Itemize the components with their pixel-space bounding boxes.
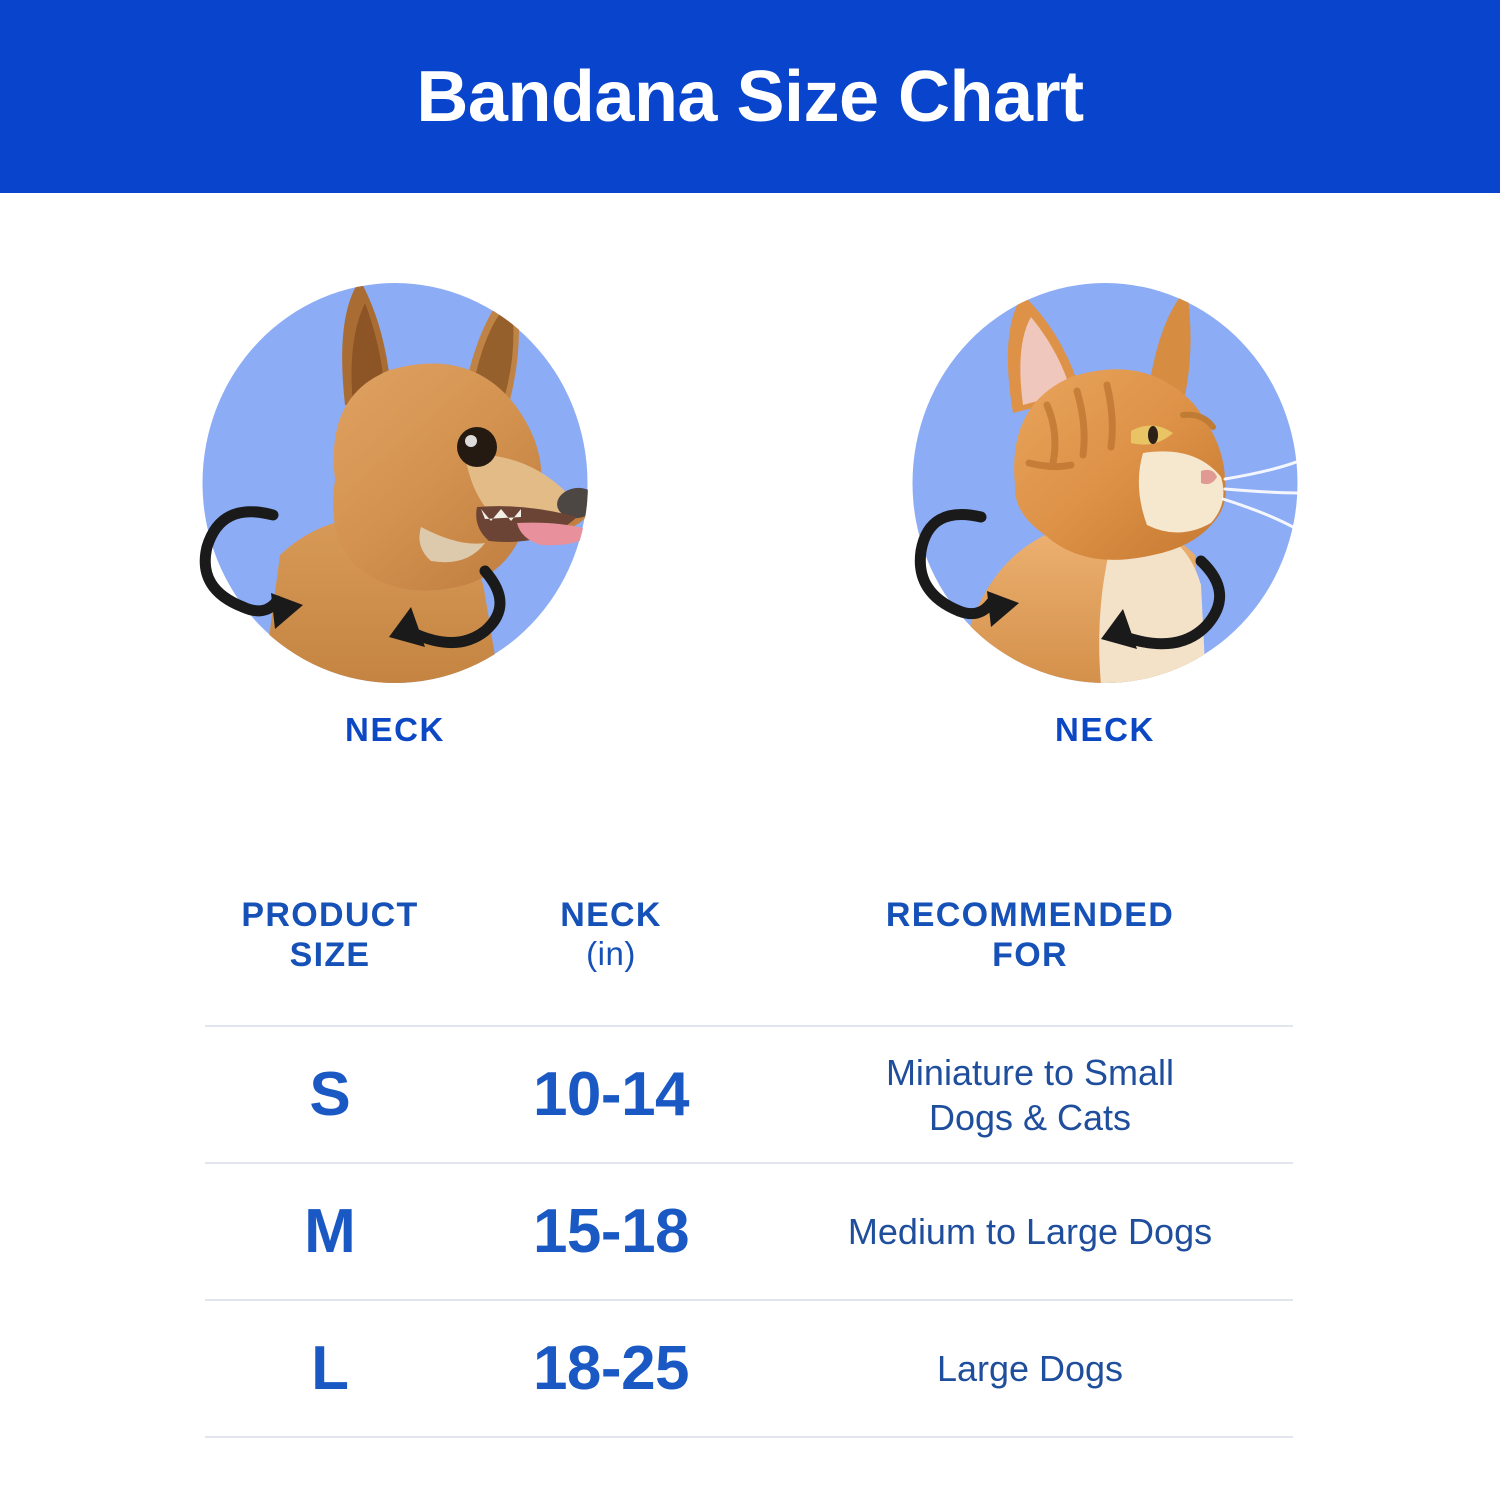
table-row: M 15-18 Medium to Large Dogs (205, 1162, 1293, 1299)
pet-illustrations: NECK (0, 255, 1500, 785)
row-recommended-value: Miniature to Small Dogs & Cats (767, 1050, 1293, 1140)
recommended-header-line1: RECOMMENDED (886, 896, 1174, 934)
column-header-neck: NECK (in) (455, 895, 767, 974)
row-recommended-line1: Large Dogs (937, 1348, 1123, 1389)
product-size-header-line2: SIZE (290, 936, 371, 974)
row-size-value: S (205, 1064, 455, 1126)
cat-illustration-block: NECK (885, 255, 1325, 785)
row-recommended-line1: Medium to Large Dogs (848, 1211, 1212, 1252)
column-header-recommended-for: RECOMMENDED FOR (767, 895, 1293, 975)
table-bottom-divider (205, 1436, 1293, 1438)
page-title: Bandana Size Chart (416, 61, 1083, 133)
cat-head-photo (895, 255, 1315, 705)
row-recommended-value: Large Dogs (767, 1346, 1293, 1391)
row-recommended-value: Medium to Large Dogs (767, 1209, 1293, 1254)
row-recommended-line1: Miniature to Small (886, 1052, 1174, 1093)
row-neck-value: 10-14 (455, 1064, 767, 1126)
cat-figure (895, 255, 1315, 705)
row-neck-value: 18-25 (455, 1338, 767, 1400)
dog-illustration-block: NECK (175, 255, 615, 785)
cat-neck-label: NECK (1055, 711, 1155, 749)
dog-head-photo (185, 255, 605, 705)
dog-neck-label: NECK (345, 711, 445, 749)
neck-header-unit: (in) (455, 935, 767, 974)
table-row: L 18-25 Large Dogs (205, 1299, 1293, 1436)
page-header: Bandana Size Chart (0, 0, 1500, 193)
row-neck-value: 15-18 (455, 1201, 767, 1263)
row-recommended-line2: Dogs & Cats (929, 1097, 1131, 1138)
dog-figure (185, 255, 605, 705)
row-size-value: L (205, 1338, 455, 1400)
table-header-row: PRODUCT SIZE NECK (in) RECOMMENDED FOR (205, 885, 1293, 1025)
row-size-value: M (205, 1201, 455, 1263)
size-table: PRODUCT SIZE NECK (in) RECOMMENDED FOR S… (205, 885, 1293, 1438)
column-header-product-size: PRODUCT SIZE (205, 895, 455, 975)
recommended-header-line2: FOR (992, 936, 1068, 974)
neck-header-line1: NECK (560, 896, 662, 934)
size-chart-page: Bandana Size Chart (0, 0, 1500, 1500)
table-row: S 10-14 Miniature to Small Dogs & Cats (205, 1025, 1293, 1162)
product-size-header-line1: PRODUCT (241, 896, 418, 934)
